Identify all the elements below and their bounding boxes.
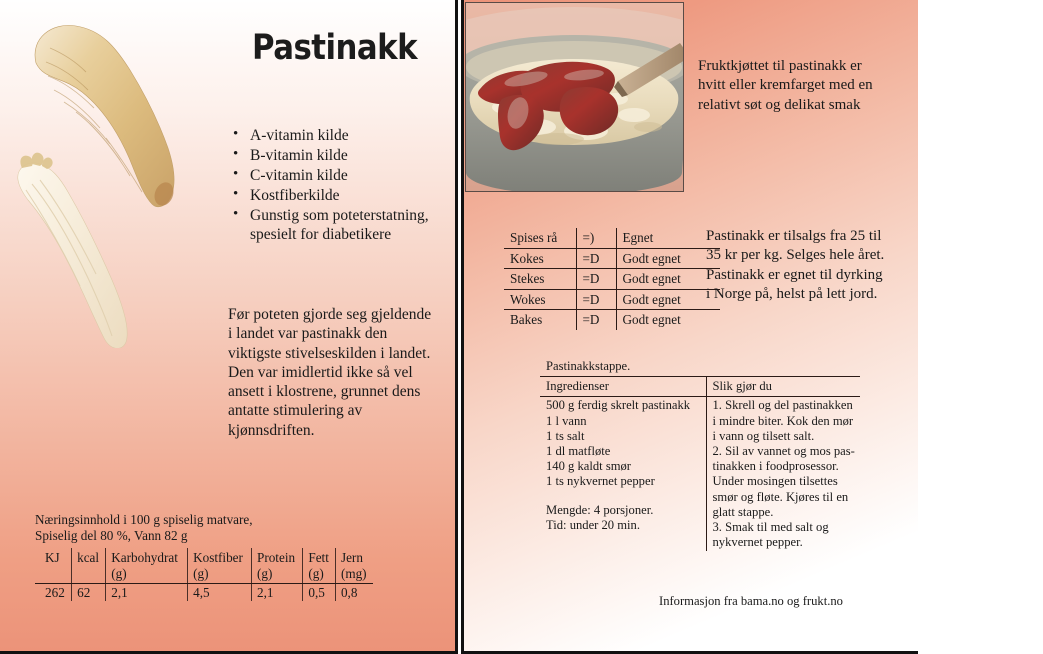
right-page-panel: Fruktkjøttet til pastinakk er hvitt elle… — [461, 0, 918, 654]
column-header-protein: Protein (g) — [251, 548, 302, 583]
cell-method: Wokes — [504, 289, 576, 310]
recipe-title-row: Pastinakkstappe. — [540, 358, 860, 377]
benefit-list: A-vitamin kilde B-vitamin kilde C-vitami… — [228, 126, 458, 245]
cell-method: Spises rå — [504, 228, 576, 248]
list-item: B-vitamin kilde — [250, 146, 458, 165]
dish-photo — [465, 2, 684, 192]
table-row: Bakes =D Godt egnet — [504, 310, 720, 330]
column-header-slik-gjor-du: Slik gjør du — [706, 377, 860, 397]
cell-kcal: 62 — [72, 583, 106, 601]
table-row: 262 62 2,1 4,5 2,1 0,5 0,8 — [35, 583, 373, 601]
cell-kj: 262 — [35, 583, 72, 601]
ingredient-item: 1 ts salt — [546, 429, 701, 444]
header-name: Karbohydrat — [111, 550, 183, 566]
header-name: Jern — [341, 550, 369, 566]
history-paragraph: Før poteten gjorde seg gjeldende i lande… — [228, 305, 436, 440]
column-header-karbohydrat: Karbohydrat (g) — [106, 548, 188, 583]
cell-face: =D — [576, 248, 616, 269]
header-name: Fett — [308, 550, 331, 566]
cell-kostfiber: 4,5 — [188, 583, 252, 601]
header-unit: (g) — [257, 566, 298, 582]
table-header-row: KJ kcal Karbohydrat (g) Kostfiber (g) Pr… — [35, 548, 373, 583]
cell-jern: 0,8 — [335, 583, 373, 601]
header-unit: (g) — [111, 566, 183, 582]
cell-rating: Egnet — [616, 228, 720, 248]
column-header-ingredienser: Ingredienser — [540, 377, 706, 397]
table-row: Spises rå =) Egnet — [504, 228, 720, 248]
recipe-step: 2. Sil av vannet og mos pas-tinakken i f… — [713, 444, 856, 520]
recipe-header-row: Ingredienser Slik gjør du — [540, 377, 860, 397]
ingredients-cell: 500 g ferdig skrelt pastinakk 1 l vann 1… — [540, 397, 706, 552]
cell-face: =D — [576, 310, 616, 330]
nutrition-block: Næringsinnhold i 100 g spiselig matvare,… — [35, 512, 395, 601]
table-row: Stekes =D Godt egnet — [504, 269, 720, 290]
recipe-table: Pastinakkstappe. Ingredienser Slik gjør … — [540, 358, 860, 551]
list-item: A-vitamin kilde — [250, 126, 458, 145]
column-header-kj: KJ — [35, 548, 72, 583]
list-item: C-vitamin kilde — [250, 166, 458, 185]
steps-cell: 1. Skrell og del pastinakken i mindre bi… — [706, 397, 860, 552]
recipe-title: Pastinakkstappe. — [540, 358, 860, 377]
cell-face: =D — [576, 289, 616, 310]
table-row: Wokes =D Godt egnet — [504, 289, 720, 310]
ingredient-item: 140 g kaldt smør — [546, 459, 701, 474]
cell-protein: 2,1 — [251, 583, 302, 601]
page-title: Pastinakk — [252, 28, 417, 68]
ingredient-item: 1 l vann — [546, 414, 701, 429]
suitability-table: Spises rå =) Egnet Kokes =D Godt egnet S… — [504, 228, 720, 330]
recipe-time: Tid: under 20 min. — [546, 518, 701, 533]
recipe-yield: Mengde: 4 porsjoner. — [546, 503, 701, 518]
column-header-kostfiber: Kostfiber (g) — [188, 548, 252, 583]
source-note: Informasjon fra bama.no og frukt.no — [659, 594, 843, 609]
header-unit: (g) — [308, 566, 331, 582]
parsnip-photo — [6, 8, 221, 348]
recipe-step: 3. Smak til med salt og nykvernet pepper… — [713, 520, 856, 550]
cell-method: Kokes — [504, 248, 576, 269]
nutrition-caption-line2: Spiselig del 80 %, Vann 82 g — [35, 528, 395, 544]
cell-fett: 0,5 — [303, 583, 336, 601]
cell-rating: Godt egnet — [616, 269, 720, 290]
cell-method: Stekes — [504, 269, 576, 290]
cell-karbohydrat: 2,1 — [106, 583, 188, 601]
recipe-body-row: 500 g ferdig skrelt pastinakk 1 l vann 1… — [540, 397, 860, 552]
nutrition-caption: Næringsinnhold i 100 g spiselig matvare,… — [35, 512, 395, 544]
header-unit: (g) — [193, 566, 247, 582]
column-header-jern: Jern (mg) — [335, 548, 373, 583]
list-item: Kostfiberkilde — [250, 186, 458, 205]
list-item: Gunstig som poteterstatning, spesielt fo… — [250, 206, 458, 245]
spacer — [546, 490, 701, 503]
cell-method: Bakes — [504, 310, 576, 330]
header-name: Protein — [257, 550, 298, 566]
ingredient-item: 1 dl matfløte — [546, 444, 701, 459]
flesh-description-paragraph: Fruktkjøttet til pastinakk er hvitt elle… — [698, 57, 883, 115]
cell-rating: Godt egnet — [616, 310, 720, 330]
cell-face: =D — [576, 269, 616, 290]
ingredient-item: 500 g ferdig skrelt pastinakk — [546, 398, 701, 413]
left-page-panel: Pastinakk A-vitamin kilde B-vitamin kild… — [0, 0, 458, 654]
price-paragraph: Pastinakk er tilsalgs fra 25 til 35 kr p… — [706, 227, 890, 304]
ingredient-item: 1 ts nykvernet pepper — [546, 474, 701, 489]
nutrition-table: KJ kcal Karbohydrat (g) Kostfiber (g) Pr… — [35, 548, 373, 601]
column-header-fett: Fett (g) — [303, 548, 336, 583]
nutrition-caption-line1: Næringsinnhold i 100 g spiselig matvare, — [35, 512, 395, 528]
column-header-kcal: kcal — [72, 548, 106, 583]
cell-face: =) — [576, 228, 616, 248]
cell-rating: Godt egnet — [616, 289, 720, 310]
header-unit: (mg) — [341, 566, 369, 582]
recipe-step: 1. Skrell og del pastinakken i mindre bi… — [713, 398, 856, 444]
header-name: Kostfiber — [193, 550, 247, 566]
cell-rating: Godt egnet — [616, 248, 720, 269]
table-row: Kokes =D Godt egnet — [504, 248, 720, 269]
